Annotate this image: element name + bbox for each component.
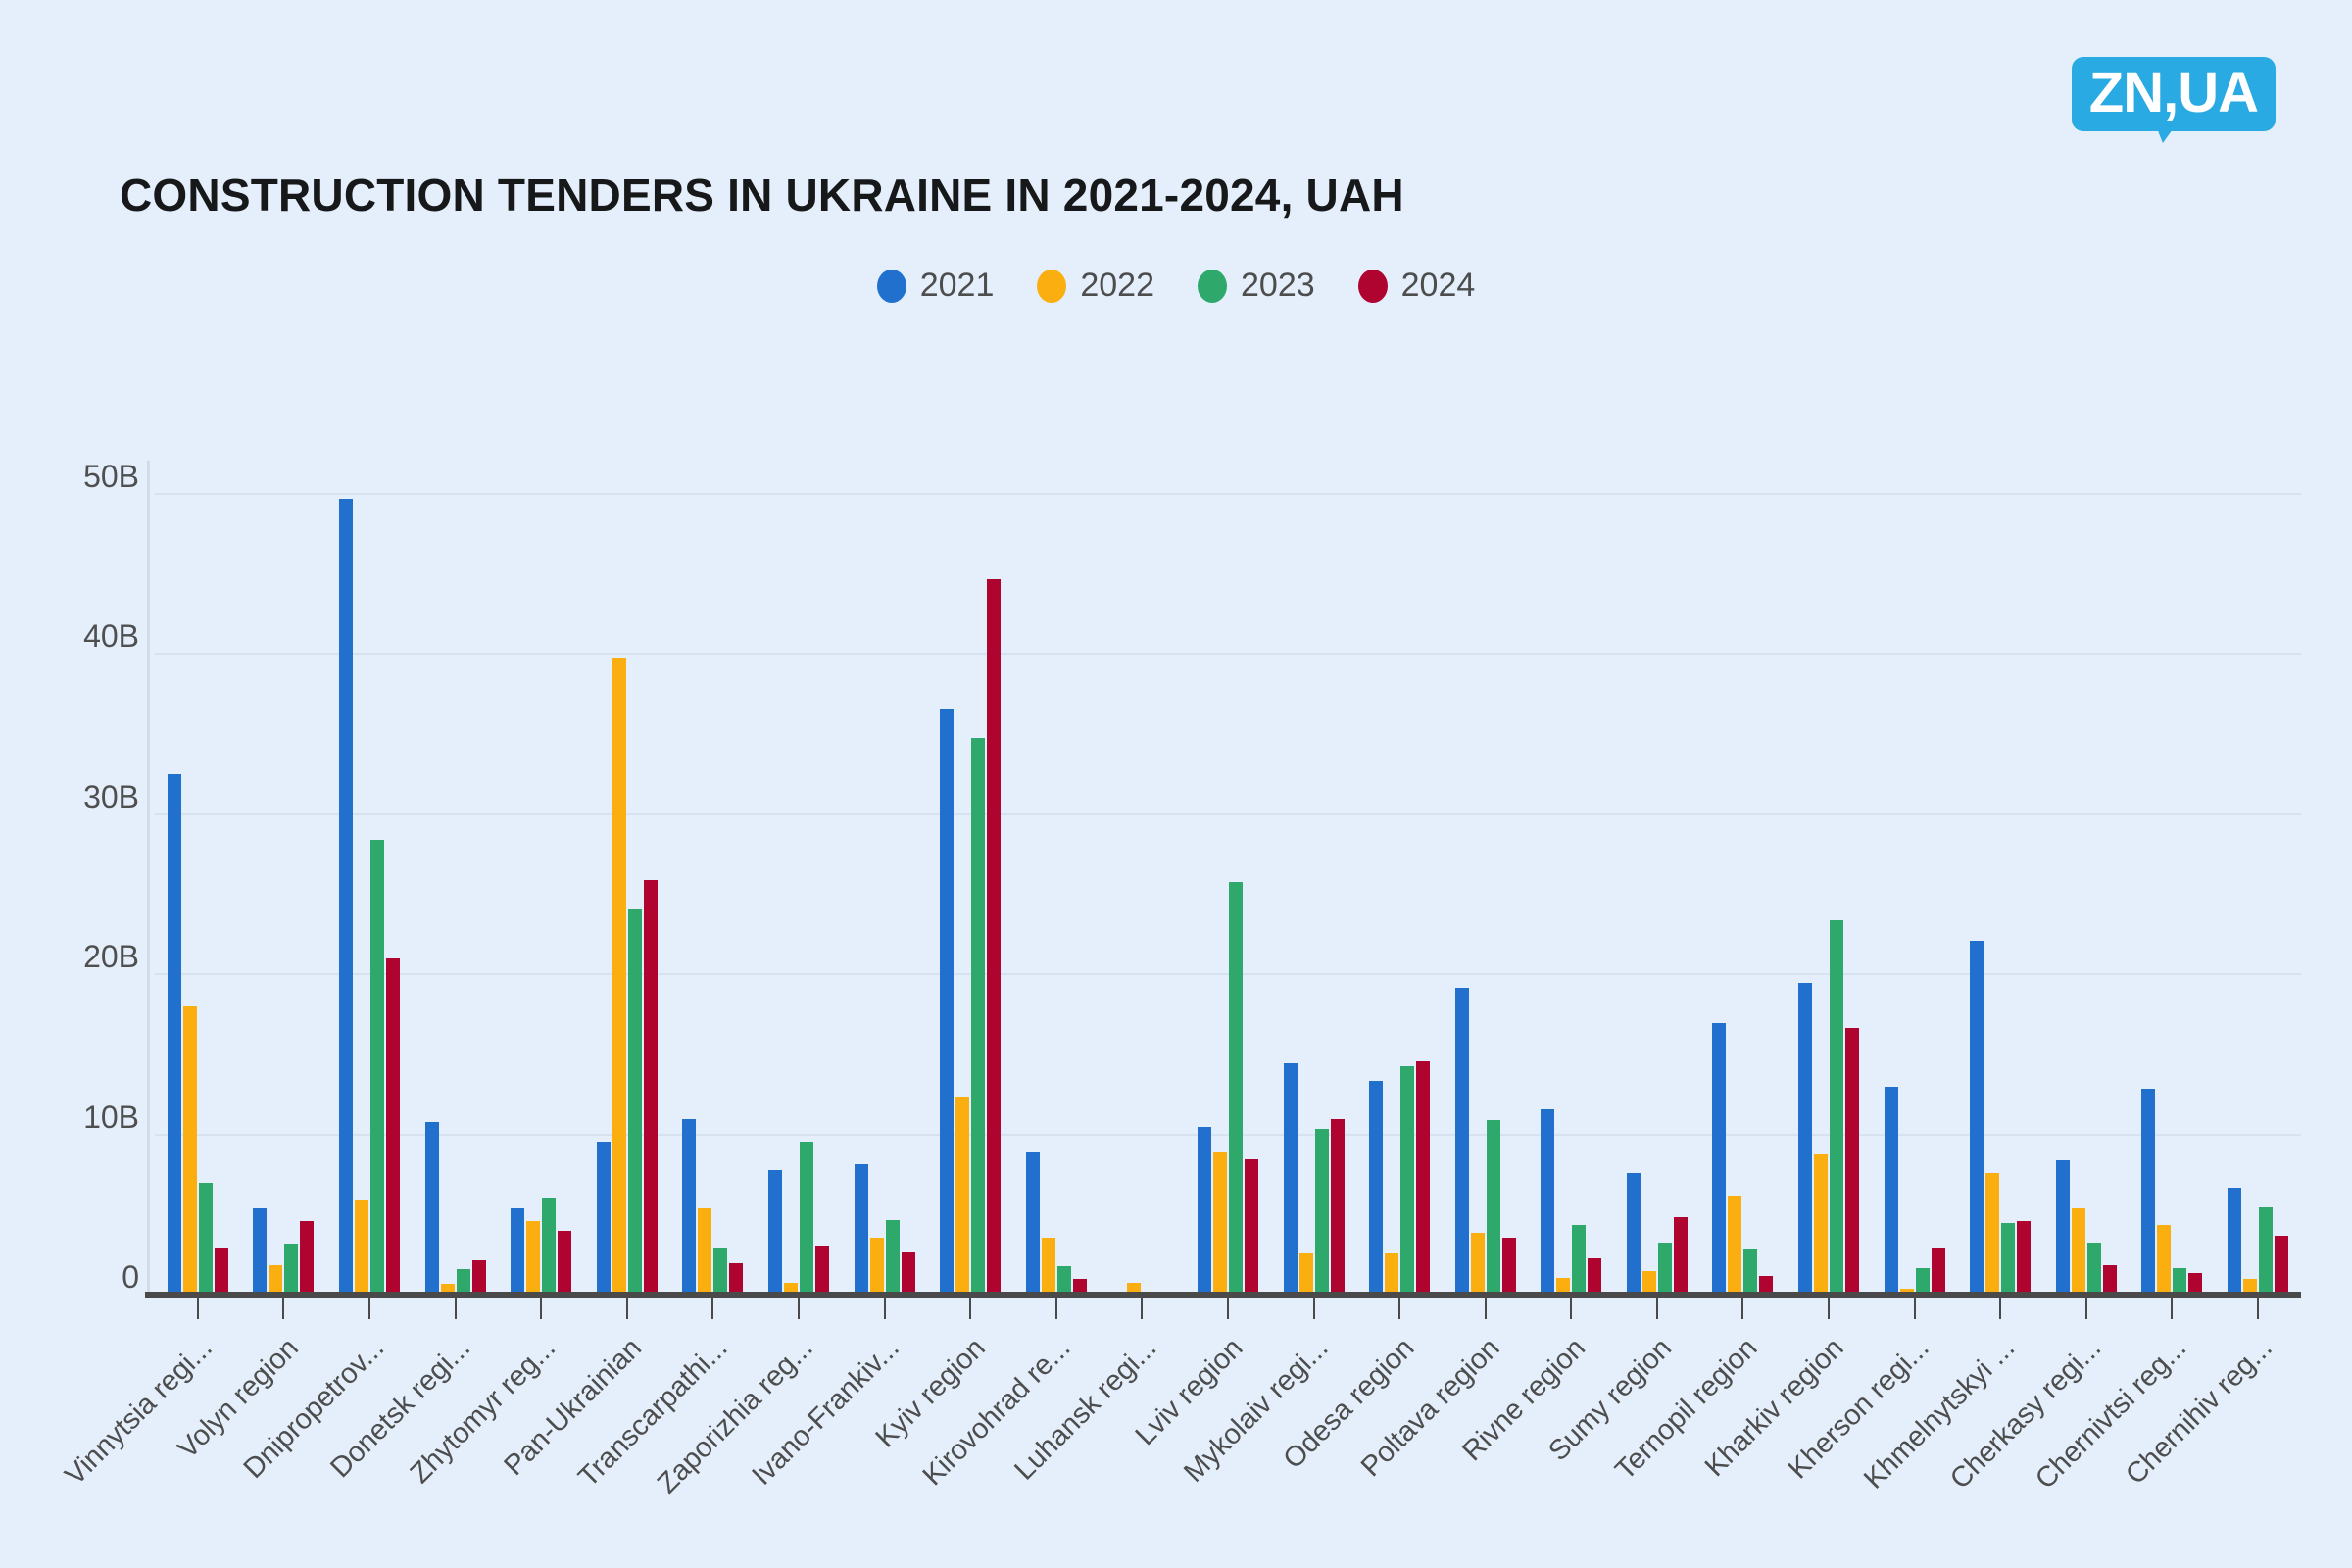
- zn-ua-logo[interactable]: ZN,UA: [2072, 57, 2276, 131]
- bar-group: [155, 461, 241, 1294]
- bar[interactable]: [1588, 1258, 1601, 1294]
- bar-group: [326, 461, 413, 1294]
- x-tick-cell: [1786, 1294, 1872, 1323]
- bar[interactable]: [902, 1252, 915, 1295]
- x-axis-tick: [197, 1294, 199, 1319]
- bar[interactable]: [1471, 1233, 1485, 1294]
- x-axis-tick: [2171, 1294, 2173, 1319]
- x-axis-tick: [1398, 1294, 1400, 1319]
- bar[interactable]: [1299, 1253, 1313, 1294]
- bar[interactable]: [971, 738, 985, 1294]
- x-axis-tick: [540, 1294, 542, 1319]
- x-tick-cell: [1356, 1294, 1443, 1323]
- x-axis-tick: [2257, 1294, 2259, 1319]
- bar[interactable]: [2173, 1268, 2186, 1294]
- bar[interactable]: [1642, 1271, 1656, 1294]
- bar[interactable]: [526, 1221, 540, 1294]
- bar[interactable]: [644, 880, 658, 1294]
- legend-swatch-icon: [1037, 269, 1066, 303]
- legend-item-2024[interactable]: 2024: [1358, 267, 1476, 305]
- bar[interactable]: [472, 1260, 486, 1294]
- x-axis-tick: [1485, 1294, 1487, 1319]
- bar-group: [498, 461, 584, 1294]
- x-axis-labels: Vinnytsia regi...Volyn regionDnipropetro…: [155, 1325, 2301, 1560]
- bar[interactable]: [2072, 1208, 2085, 1294]
- bar[interactable]: [199, 1183, 213, 1294]
- bar-group: [1957, 461, 2043, 1294]
- bar-group: [241, 461, 327, 1294]
- bar[interactable]: [855, 1164, 868, 1294]
- legend-label: 2022: [1080, 267, 1154, 305]
- x-axis-tick: [884, 1294, 886, 1319]
- bar[interactable]: [300, 1221, 314, 1294]
- bar[interactable]: [1970, 941, 1984, 1294]
- x-tick-cell: [1185, 1294, 1271, 1323]
- bar-group: [927, 461, 1013, 1294]
- bar[interactable]: [1658, 1243, 1672, 1294]
- bar-group: [1100, 461, 1186, 1294]
- legend-label: 2021: [920, 267, 995, 305]
- x-axis-tick: [1141, 1294, 1143, 1319]
- bar[interactable]: [940, 709, 954, 1294]
- page-title: CONSTRUCTION TENDERS IN UKRAINE IN 2021-…: [120, 169, 1404, 221]
- bar[interactable]: [355, 1200, 368, 1294]
- x-tick-cell: [1700, 1294, 1787, 1323]
- bar[interactable]: [1572, 1225, 1586, 1294]
- x-axis-tick: [798, 1294, 800, 1319]
- legend-item-2022[interactable]: 2022: [1037, 267, 1154, 305]
- bar-group: [1786, 461, 1872, 1294]
- y-axis-tick-label: 10B: [83, 1100, 139, 1136]
- bar[interactable]: [253, 1208, 267, 1294]
- bar[interactable]: [1198, 1127, 1211, 1294]
- bar-group: [2215, 461, 2301, 1294]
- x-axis-category-label: Vinnytsia regi...: [60, 1331, 221, 1493]
- bar[interactable]: [886, 1220, 900, 1294]
- y-axis-tick-label: 20B: [83, 939, 139, 975]
- x-tick-cell: [756, 1294, 842, 1323]
- bar-group: [413, 461, 499, 1294]
- bar[interactable]: [457, 1269, 470, 1294]
- bar-group: [584, 461, 670, 1294]
- x-axis-ticks: [155, 1294, 2301, 1323]
- x-tick-cell: [670, 1294, 757, 1323]
- bar[interactable]: [1416, 1061, 1430, 1294]
- bar[interactable]: [2275, 1236, 2288, 1294]
- y-axis-tick-label: 40B: [83, 618, 139, 655]
- x-tick-cell: [1614, 1294, 1700, 1323]
- logo-badge: ZN,UA: [2072, 57, 2276, 131]
- bar[interactable]: [713, 1248, 727, 1294]
- bar[interactable]: [1814, 1154, 1828, 1294]
- bar[interactable]: [729, 1263, 743, 1294]
- bar[interactable]: [682, 1119, 696, 1294]
- bar[interactable]: [1885, 1087, 1898, 1294]
- logo-speech-tail: [2156, 125, 2176, 143]
- bar-group: [1700, 461, 1787, 1294]
- bar[interactable]: [1057, 1266, 1071, 1294]
- legend-label: 2023: [1241, 267, 1315, 305]
- bar[interactable]: [425, 1122, 439, 1294]
- bar[interactable]: [2087, 1243, 2101, 1294]
- plot-area: 010B20B30B40B50B: [155, 461, 2301, 1294]
- bar-group: [670, 461, 757, 1294]
- x-tick-cell: [155, 1294, 241, 1323]
- bar[interactable]: [1385, 1253, 1398, 1294]
- bar[interactable]: [1400, 1066, 1414, 1294]
- bar[interactable]: [284, 1244, 298, 1294]
- x-tick-cell: [1013, 1294, 1100, 1323]
- bar[interactable]: [1042, 1238, 1055, 1294]
- bar-group: [1185, 461, 1271, 1294]
- x-axis-tick: [1828, 1294, 1830, 1319]
- bar[interactable]: [1712, 1023, 1726, 1294]
- bar[interactable]: [1728, 1196, 1741, 1294]
- bar[interactable]: [2017, 1221, 2031, 1294]
- x-tick-cell: [842, 1294, 928, 1323]
- bar[interactable]: [815, 1246, 829, 1294]
- x-axis-tick: [1313, 1294, 1315, 1319]
- x-tick-cell: [2215, 1294, 2301, 1323]
- bar[interactable]: [2188, 1273, 2202, 1294]
- x-tick-cell: [2043, 1294, 2130, 1323]
- x-tick-cell: [241, 1294, 327, 1323]
- x-tick-cell: [1529, 1294, 1615, 1323]
- bar[interactable]: [1627, 1173, 1641, 1294]
- bar[interactable]: [386, 958, 400, 1294]
- bar[interactable]: [1932, 1248, 1945, 1294]
- bar[interactable]: [1315, 1129, 1329, 1294]
- legend-swatch-icon: [1358, 269, 1388, 303]
- bar[interactable]: [612, 658, 626, 1294]
- x-axis-tick: [282, 1294, 284, 1319]
- bar[interactable]: [628, 909, 642, 1294]
- bar[interactable]: [370, 840, 384, 1294]
- bar-group: [842, 461, 928, 1294]
- x-axis-tick: [1999, 1294, 2001, 1319]
- x-axis-tick: [2085, 1294, 2087, 1319]
- bar[interactable]: [1213, 1151, 1227, 1294]
- bar[interactable]: [1798, 983, 1812, 1294]
- bar[interactable]: [870, 1238, 884, 1294]
- chart-legend: 2021202220232024: [0, 267, 2352, 305]
- x-tick-cell: [1100, 1294, 1186, 1323]
- bar[interactable]: [800, 1142, 813, 1294]
- y-axis-tick-label: 0: [122, 1259, 139, 1296]
- y-axis-tick-label: 50B: [83, 459, 139, 495]
- bar[interactable]: [269, 1265, 282, 1294]
- bar-group: [756, 461, 842, 1294]
- bar[interactable]: [1245, 1159, 1258, 1294]
- bar[interactable]: [1229, 882, 1243, 1294]
- bar-group: [1872, 461, 1958, 1294]
- bar[interactable]: [183, 1006, 197, 1294]
- bar[interactable]: [1985, 1173, 1999, 1294]
- bar[interactable]: [168, 774, 181, 1294]
- bar[interactable]: [2001, 1223, 2015, 1294]
- bar[interactable]: [1455, 988, 1469, 1294]
- x-axis-tick: [626, 1294, 628, 1319]
- bar[interactable]: [698, 1208, 711, 1294]
- x-tick-cell: [1957, 1294, 2043, 1323]
- bar[interactable]: [1331, 1119, 1345, 1294]
- bar[interactable]: [558, 1231, 571, 1294]
- bar[interactable]: [1830, 920, 1843, 1294]
- bar-group: [1271, 461, 1357, 1294]
- bar-groups: [155, 461, 2301, 1294]
- bar-group: [1356, 461, 1443, 1294]
- x-tick-cell: [413, 1294, 499, 1323]
- x-axis-tick: [1570, 1294, 1572, 1319]
- x-tick-cell: [1271, 1294, 1357, 1323]
- x-axis-tick: [969, 1294, 971, 1319]
- logo-text: ZN,UA: [2089, 65, 2258, 122]
- x-tick-cell: [2130, 1294, 2216, 1323]
- bar[interactable]: [542, 1198, 556, 1294]
- bar[interactable]: [955, 1097, 969, 1294]
- x-axis-tick: [1656, 1294, 1658, 1319]
- x-axis-tick: [1227, 1294, 1229, 1319]
- legend-label: 2024: [1401, 267, 1476, 305]
- bar-group: [1614, 461, 1700, 1294]
- bar[interactable]: [1674, 1217, 1688, 1294]
- bar[interactable]: [1743, 1249, 1757, 1294]
- bar[interactable]: [1284, 1063, 1298, 1294]
- x-tick-cell: [1443, 1294, 1529, 1323]
- bar[interactable]: [1845, 1028, 1859, 1294]
- bar[interactable]: [1369, 1081, 1383, 1294]
- bar[interactable]: [1487, 1120, 1500, 1294]
- x-tick-cell: [927, 1294, 1013, 1323]
- bar[interactable]: [215, 1248, 228, 1294]
- x-axis-tick: [455, 1294, 457, 1319]
- bar[interactable]: [339, 499, 353, 1294]
- x-axis-tick: [1741, 1294, 1743, 1319]
- x-axis-tick: [1055, 1294, 1057, 1319]
- legend-swatch-icon: [1198, 269, 1227, 303]
- bar[interactable]: [1026, 1151, 1040, 1294]
- bar-group: [2130, 461, 2216, 1294]
- x-axis-tick: [1914, 1294, 1916, 1319]
- bar[interactable]: [987, 579, 1001, 1294]
- bar[interactable]: [597, 1142, 611, 1294]
- bar[interactable]: [1916, 1268, 1930, 1294]
- legend-item-2023[interactable]: 2023: [1198, 267, 1315, 305]
- bar-group: [1013, 461, 1100, 1294]
- y-axis-tick-label: 30B: [83, 779, 139, 815]
- chart-page: ZN,UA CONSTRUCTION TENDERS IN UKRAINE IN…: [0, 0, 2352, 1568]
- x-tick-cell: [584, 1294, 670, 1323]
- bar[interactable]: [2141, 1089, 2155, 1294]
- x-tick-cell: [498, 1294, 584, 1323]
- bar[interactable]: [2157, 1225, 2171, 1294]
- bar-group: [1443, 461, 1529, 1294]
- bar[interactable]: [2103, 1265, 2117, 1294]
- x-tick-cell: [1872, 1294, 1958, 1323]
- bar[interactable]: [2259, 1207, 2273, 1294]
- x-label-cell: Chernihiv reg...: [2215, 1325, 2301, 1560]
- bar[interactable]: [1541, 1109, 1554, 1294]
- bar[interactable]: [2056, 1160, 2070, 1294]
- bar[interactable]: [768, 1170, 782, 1294]
- bar-group: [1529, 461, 1615, 1294]
- bar[interactable]: [511, 1208, 524, 1294]
- bar[interactable]: [2228, 1188, 2241, 1294]
- legend-item-2021[interactable]: 2021: [877, 267, 995, 305]
- x-axis-tick: [711, 1294, 713, 1319]
- bar[interactable]: [1502, 1238, 1516, 1294]
- legend-swatch-icon: [877, 269, 906, 303]
- y-axis-line: [147, 461, 150, 1298]
- x-axis-tick: [368, 1294, 370, 1319]
- x-tick-cell: [326, 1294, 413, 1323]
- bar-group: [2043, 461, 2130, 1294]
